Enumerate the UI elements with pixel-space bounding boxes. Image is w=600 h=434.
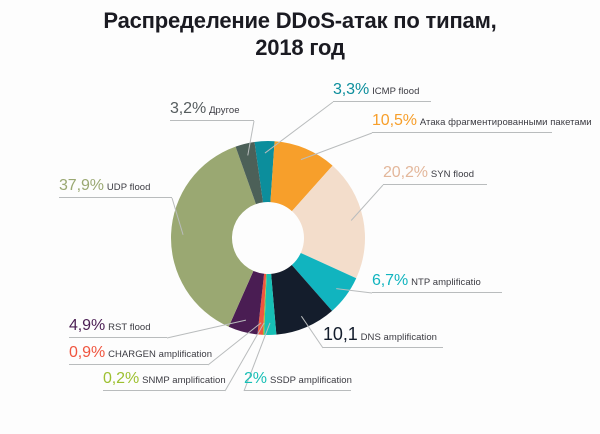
data-label-underline (372, 292, 502, 293)
data-label-text: NTP amplificatio (411, 277, 481, 288)
data-label-underline (59, 197, 172, 198)
data-label-text: SNMP amplification (142, 375, 226, 386)
donut-chart: ICMP flood 3,3%Атака фрагментированными … (0, 0, 600, 434)
data-label-text: ICMP flood (372, 86, 419, 97)
data-label-dns: 10,1DNS amplification (323, 325, 443, 348)
data-label-value: 0,9% (69, 344, 105, 361)
leader-line-fragment (301, 133, 372, 160)
data-label-underline (383, 184, 487, 185)
data-label-ssdp: 2%SSDP amplification (244, 371, 352, 391)
data-label-value: 37,9% (59, 177, 104, 194)
data-label-value: 10,1 (323, 324, 358, 344)
data-label-underline (170, 120, 254, 121)
data-label-underline (69, 364, 208, 365)
data-label-syn: 20,2%SYN flood (383, 165, 487, 185)
data-label-chargen: 0,9%CHARGEN amplification (69, 345, 212, 365)
data-label-rst: 4,9%RST flood (69, 318, 167, 338)
data-label-value: 0,2% (103, 370, 139, 387)
data-label-text: DNS amplification (361, 332, 437, 343)
data-label-underline (323, 347, 443, 348)
data-label-other: 3,2%Другое (170, 101, 254, 121)
data-label-icmp: 3,3%ICMP flood (333, 82, 431, 102)
data-label-fragment: 10,5%Атака фрагментированными пакетами (372, 113, 592, 133)
chart-container: Распределение DDoS-атак по типам, 2018 г… (0, 0, 600, 434)
data-label-value: 10,5% (372, 112, 417, 129)
donut-slices: ICMP flood 3,3%Атака фрагментированными … (171, 141, 365, 335)
data-label-text: Другое (209, 105, 239, 116)
data-label-value: 4,9% (69, 317, 105, 334)
data-label-value: 6,7% (372, 272, 408, 289)
data-label-text: RST flood (108, 322, 151, 333)
data-label-text: CHARGEN amplification (108, 349, 212, 360)
leader-line-chargen (208, 323, 261, 365)
leader-line-icmp (265, 102, 333, 153)
data-label-value: 20,2% (383, 164, 428, 181)
data-label-text: Атака фрагментированными пакетами (420, 117, 592, 128)
data-label-text: SSDP amplification (270, 375, 352, 386)
data-label-text: SYN flood (431, 169, 474, 180)
data-label-snmp: 0,2%SNMP amplification (103, 371, 226, 391)
data-label-ntp: 6,7%NTP amplificatio (372, 273, 502, 293)
data-label-value: 2% (244, 370, 267, 387)
data-label-value: 3,2% (170, 100, 206, 117)
data-label-underline (103, 390, 225, 391)
data-label-underline (244, 390, 351, 391)
leader-line-rst (167, 320, 246, 338)
data-label-underline (372, 132, 552, 133)
data-label-udp: 37,9%UDP flood (59, 178, 172, 198)
data-label-text: UDP flood (107, 182, 151, 193)
data-label-underline (333, 101, 431, 102)
data-label-value: 3,3% (333, 81, 369, 98)
data-label-underline (69, 337, 167, 338)
